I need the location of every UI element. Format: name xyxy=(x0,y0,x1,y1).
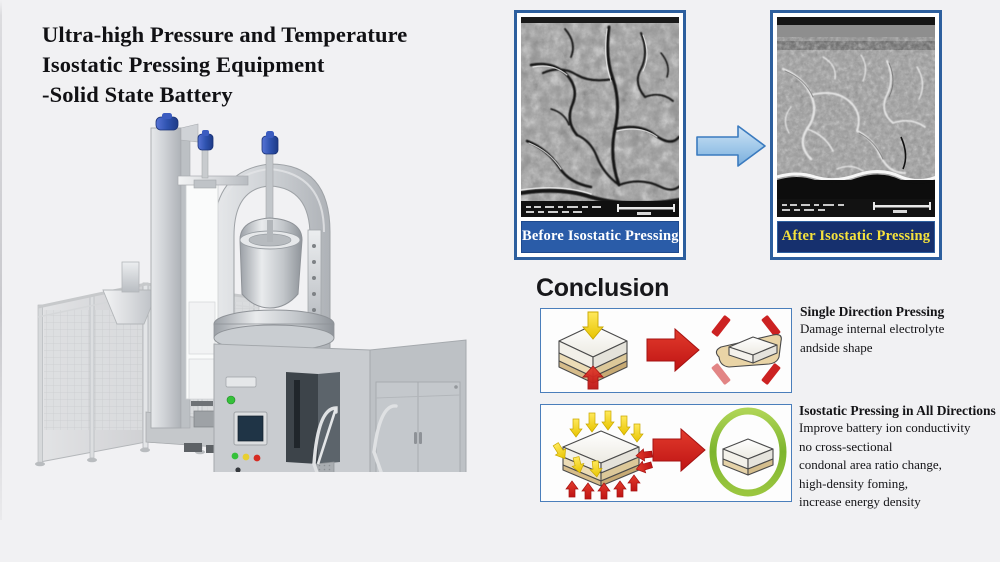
slide-canvas: Ultra-high Pressure and Temperature Isos… xyxy=(0,0,1000,562)
machine-cabinet xyxy=(214,340,466,472)
title-line-1: Ultra-high Pressure and Temperature xyxy=(42,20,492,50)
sem-panel-before: Before Isostatic Pressing xyxy=(514,10,686,260)
machine-illustration xyxy=(18,112,488,472)
single-direction-pressing-diagram xyxy=(540,308,792,393)
single-direction-line-2: andside shape xyxy=(800,339,944,358)
transition-arrow-red xyxy=(647,329,699,371)
single-direction-line-1: Damage internal electrolyte xyxy=(800,320,944,339)
isostatic-pressing-diagram xyxy=(540,404,792,502)
sem-caption-before: Before Isostatic Pressing xyxy=(521,221,679,253)
conclusion-heading: Conclusion xyxy=(536,274,669,303)
single-direction-heading: Single Direction Pressing xyxy=(800,303,944,320)
title-line-3: -Solid State Battery xyxy=(42,80,492,110)
sem-panel-after: After Isostatic Pressing xyxy=(770,10,942,260)
single-direction-pressing-text: Single Direction Pressing Damage interna… xyxy=(800,303,944,357)
blue-right-arrow xyxy=(694,121,768,176)
isostatic-line-3: condonal area ratio change, xyxy=(799,456,996,475)
sem-micrograph-before xyxy=(521,17,679,217)
cell-stack-uniform xyxy=(723,439,773,475)
title-line-2: Isostatic Pressing Equipment xyxy=(42,50,492,80)
isostatic-line-4: high-density foming, xyxy=(799,475,996,494)
isostatic-heading: Isostatic Pressing in All Directions xyxy=(799,402,996,419)
sem-micrograph-after xyxy=(777,17,935,217)
isostatic-line-5: increase energy density xyxy=(799,493,996,512)
transition-arrow-red xyxy=(653,429,705,471)
sem-frame-before: Before Isostatic Pressing xyxy=(514,10,686,260)
isostatic-pressing-text: Isostatic Pressing in All Directions Imp… xyxy=(799,402,996,512)
isostatic-line-1: Improve battery ion conductivity xyxy=(799,419,996,438)
slide-left-edge xyxy=(0,0,2,520)
page-title: Ultra-high Pressure and Temperature Isos… xyxy=(42,20,492,110)
isostatic-line-2: no cross-sectional xyxy=(799,438,996,457)
sem-frame-after: After Isostatic Pressing xyxy=(770,10,942,260)
cell-stack-deformed xyxy=(716,335,781,367)
sem-caption-after: After Isostatic Pressing xyxy=(777,221,935,253)
inner-panel xyxy=(186,184,218,406)
